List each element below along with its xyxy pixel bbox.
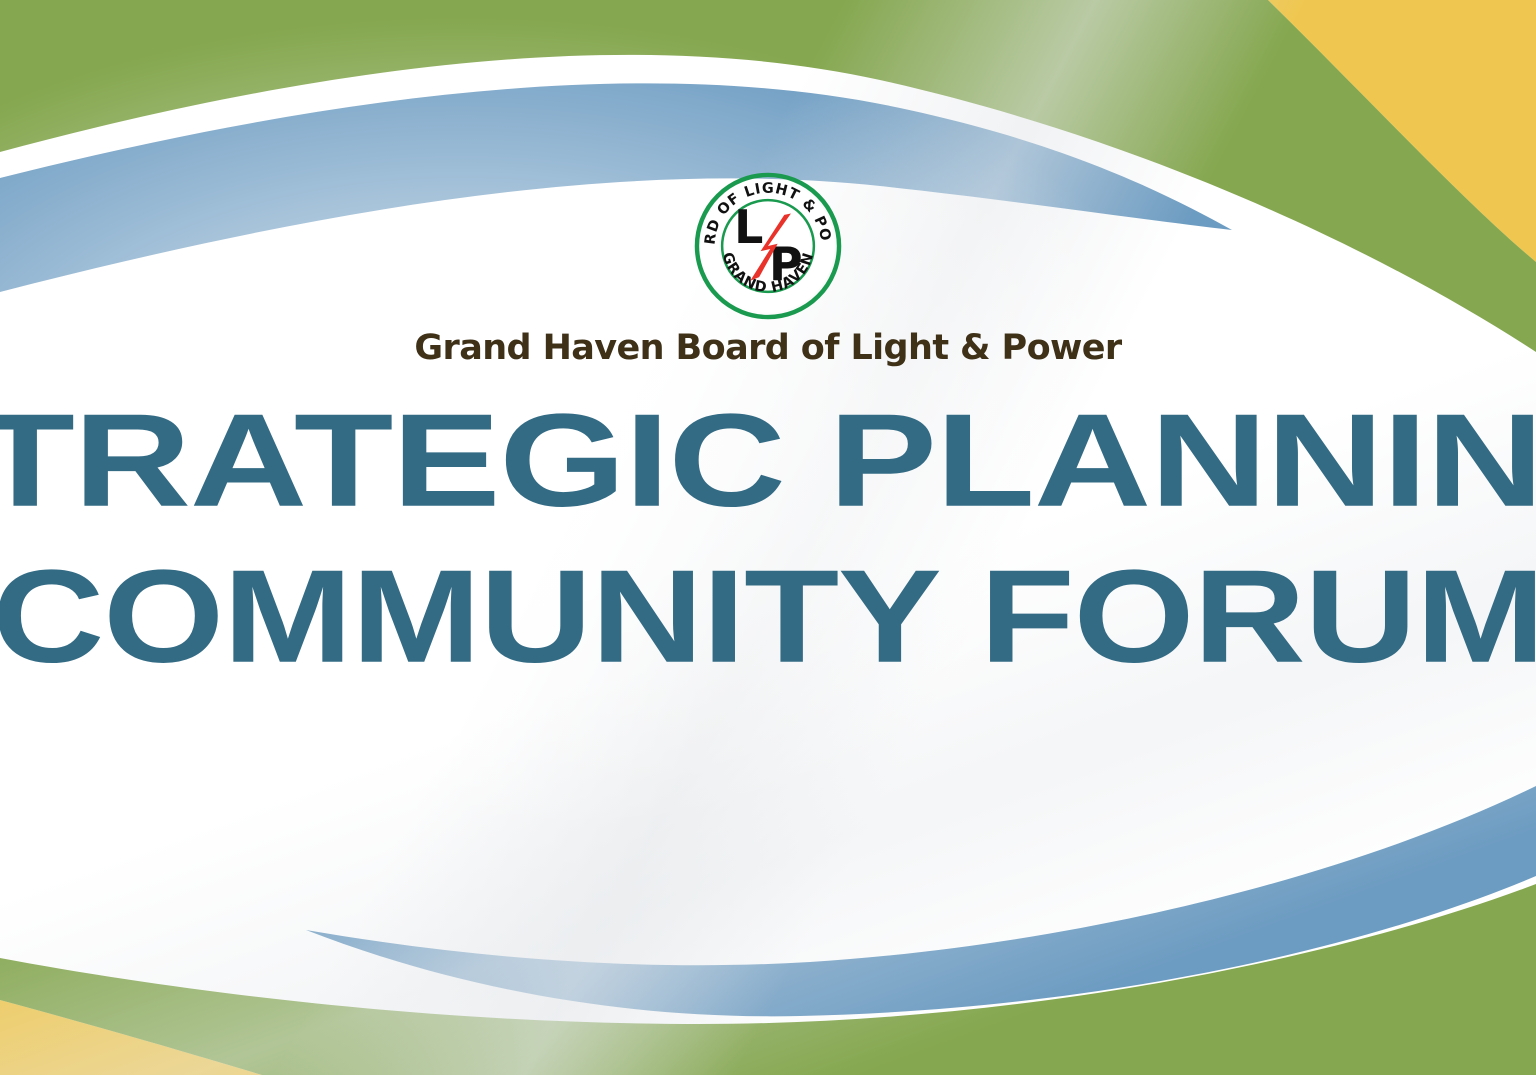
- blp-seal-icon: BOARD OF LIGHT & POWER GRAND HAVEN L P: [694, 172, 842, 320]
- page-title: STRATEGIC PLANNING COMMUNITY FORUM: [0, 404, 1536, 675]
- title-line-2: COMMUNITY FORUM: [0, 553, 1536, 683]
- organization-name: Grand Haven Board of Light & Power: [414, 328, 1121, 368]
- title-line-1: STRATEGIC PLANNING: [0, 397, 1536, 527]
- seal-letter-l: L: [734, 200, 763, 254]
- poster-canvas: BOARD OF LIGHT & POWER GRAND HAVEN L P G…: [0, 0, 1536, 1075]
- logo: BOARD OF LIGHT & POWER GRAND HAVEN L P: [694, 186, 842, 306]
